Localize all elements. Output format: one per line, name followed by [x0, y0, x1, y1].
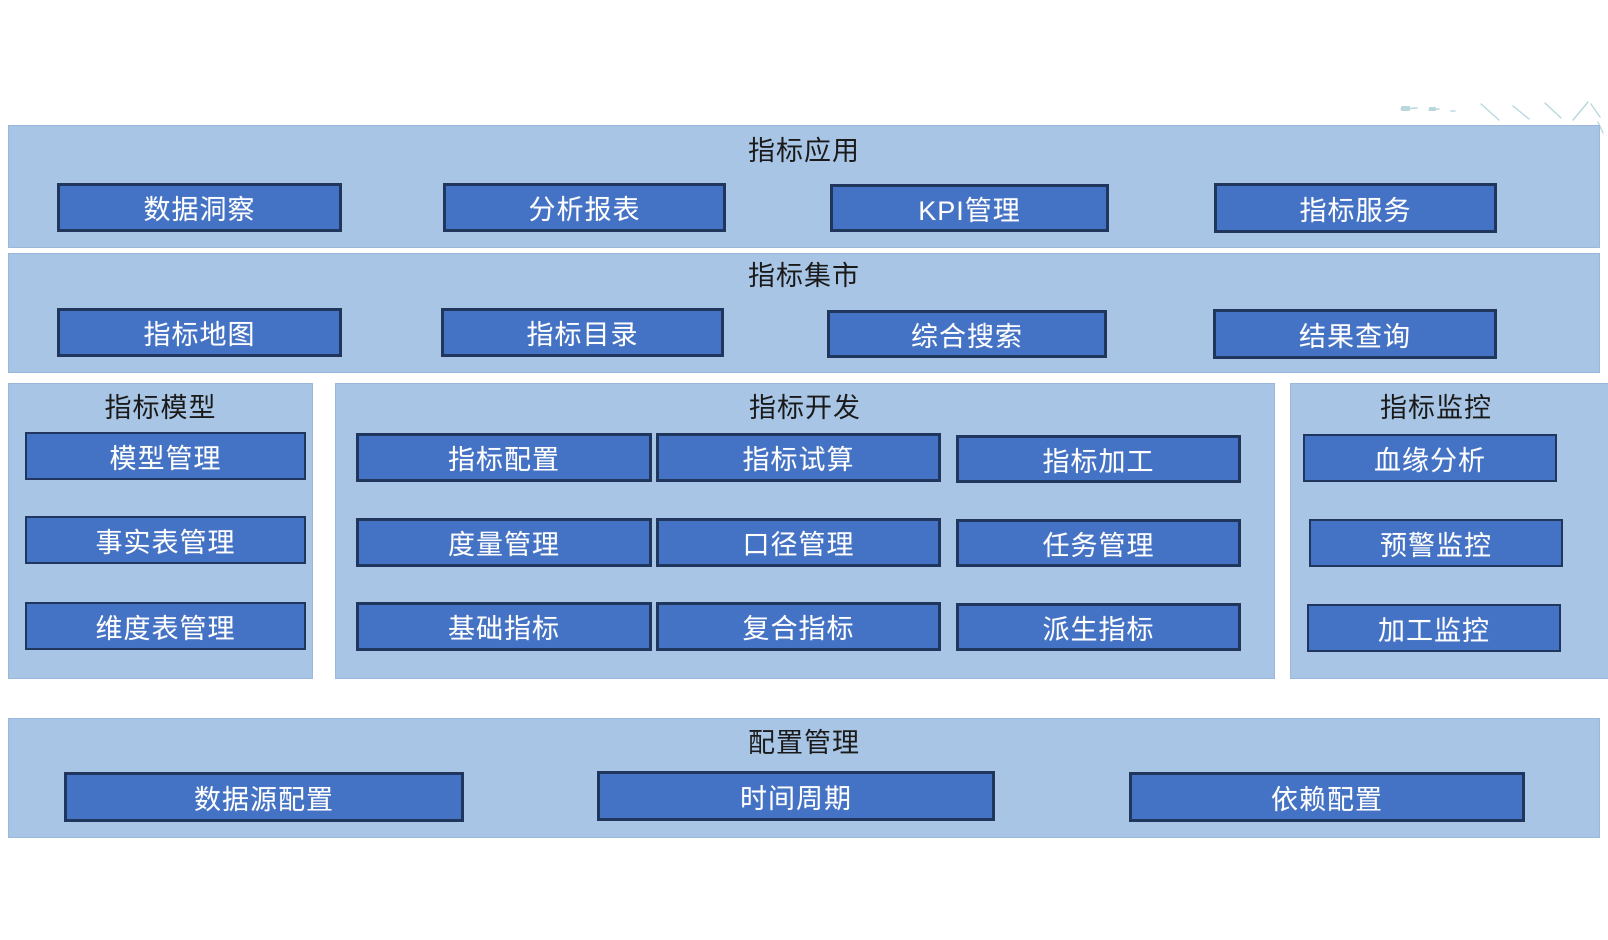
layer-title-development: 指标开发	[336, 392, 1274, 424]
layer-panel-development: 指标开发 指标配置 指标试算 指标加工 度量管理 口径管理 任务管理 基础指标 …	[335, 383, 1275, 679]
dev-button-measure-management[interactable]: 度量管理	[356, 518, 652, 567]
market-button-metric-catalog[interactable]: 指标目录	[441, 308, 724, 357]
dev-button-basic-metric[interactable]: 基础指标	[356, 602, 652, 651]
model-button-model-management[interactable]: 模型管理	[25, 432, 306, 480]
layer-panel-model: 指标模型 模型管理 事实表管理 维度表管理	[8, 383, 313, 679]
dev-button-composite-metric[interactable]: 复合指标	[656, 602, 941, 651]
layer-panel-market: 指标集市 指标地图 指标目录 综合搜索 结果查询	[8, 253, 1600, 373]
config-button-datasource-configuration[interactable]: 数据源配置	[64, 772, 464, 822]
layer-title-application: 指标应用	[9, 135, 1599, 167]
market-button-metric-map[interactable]: 指标地图	[57, 308, 342, 357]
app-button-metric-service[interactable]: 指标服务	[1214, 183, 1497, 233]
dev-button-task-management[interactable]: 任务管理	[956, 519, 1241, 567]
monitor-button-alert-monitoring[interactable]: 预警监控	[1309, 519, 1563, 567]
dev-button-metric-trial-calculation[interactable]: 指标试算	[656, 433, 941, 482]
market-button-comprehensive-search[interactable]: 综合搜索	[827, 310, 1107, 358]
dev-button-caliber-management[interactable]: 口径管理	[656, 518, 941, 567]
model-button-fact-table-management[interactable]: 事实表管理	[25, 516, 306, 564]
config-button-time-period[interactable]: 时间周期	[597, 771, 995, 821]
model-button-dimension-table-management[interactable]: 维度表管理	[25, 602, 306, 650]
layer-panel-application: 指标应用 数据洞察 分析报表 KPI管理 指标服务	[8, 125, 1600, 248]
monitor-button-processing-monitoring[interactable]: 加工监控	[1307, 604, 1561, 652]
dev-button-derived-metric[interactable]: 派生指标	[956, 603, 1241, 651]
config-button-dependency-configuration[interactable]: 依赖配置	[1129, 772, 1525, 822]
market-button-result-query[interactable]: 结果查询	[1213, 309, 1497, 359]
app-button-kpi-management[interactable]: KPI管理	[830, 184, 1109, 232]
app-button-data-insight[interactable]: 数据洞察	[57, 183, 342, 232]
dev-button-metric-processing[interactable]: 指标加工	[956, 435, 1241, 483]
layer-title-configuration: 配置管理	[9, 727, 1599, 759]
layer-title-monitoring: 指标监控	[1291, 392, 1581, 424]
monitor-button-lineage-analysis[interactable]: 血缘分析	[1303, 434, 1557, 482]
layer-title-model: 指标模型	[9, 392, 312, 424]
app-button-analysis-report[interactable]: 分析报表	[443, 183, 726, 232]
layer-panel-configuration: 配置管理 数据源配置 时间周期 依赖配置	[8, 718, 1600, 838]
layer-panel-monitoring: 指标监控 血缘分析 预警监控 加工监控	[1290, 383, 1608, 679]
dev-button-metric-configuration[interactable]: 指标配置	[356, 433, 652, 482]
layer-title-market: 指标集市	[9, 260, 1599, 292]
